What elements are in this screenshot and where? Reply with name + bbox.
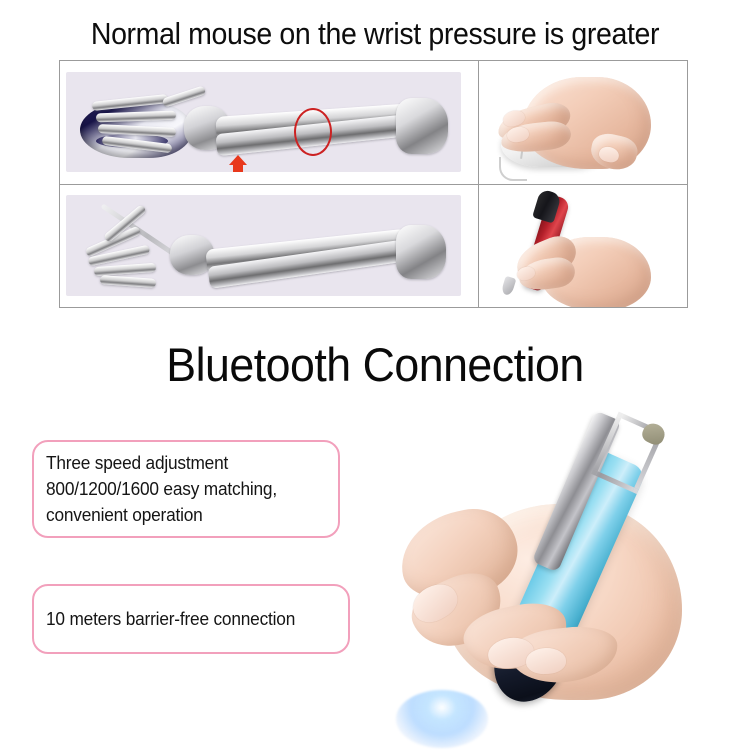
callout-line: Three speed adjustment: [46, 450, 326, 476]
comparison-grid: [59, 60, 688, 308]
xray-panel-mouse: [66, 72, 461, 172]
wrist-stress-circle-icon: [294, 108, 332, 156]
pressure-arrow-icon: [229, 155, 247, 172]
photo-hand-on-mouse: [479, 61, 687, 184]
xray-finger-bone: [100, 275, 156, 288]
callout-line: convenient operation: [46, 502, 326, 528]
red-pen-mouse-tip: [501, 276, 517, 296]
section-title-bluetooth-connection: Bluetooth Connection: [19, 336, 732, 394]
white-mouse-cord: [499, 157, 527, 181]
xray-elbow-joint: [396, 98, 448, 154]
page-headline: Normal mouse on the wrist pressure is gr…: [30, 14, 720, 54]
callout-line: 10 meters barrier-free connection: [46, 606, 336, 632]
pen-mouse-led-glow: [396, 690, 488, 748]
grid-cell-xray-pen-grip: [60, 185, 479, 307]
callout-line: 800/1200/1600 easy matching,: [46, 476, 326, 502]
fingernail: [526, 647, 567, 674]
photo-hand-with-pen-mouse: [479, 185, 687, 307]
xray-thumb-bone: [162, 85, 207, 107]
xray-elbow-joint: [396, 225, 446, 279]
callout-speed-adjustment: Three speed adjustment 800/1200/1600 eas…: [32, 440, 340, 538]
grid-cell-photo-hand-with-pen-mouse: [479, 185, 687, 307]
grid-cell-photo-hand-on-mouse: [479, 61, 687, 185]
callout-connection-range: 10 meters barrier-free connection: [32, 584, 350, 654]
grid-cell-xray-mouse-grip: [60, 61, 479, 185]
xray-panel-pen: [66, 195, 461, 296]
xray-finger-bone: [94, 263, 156, 276]
